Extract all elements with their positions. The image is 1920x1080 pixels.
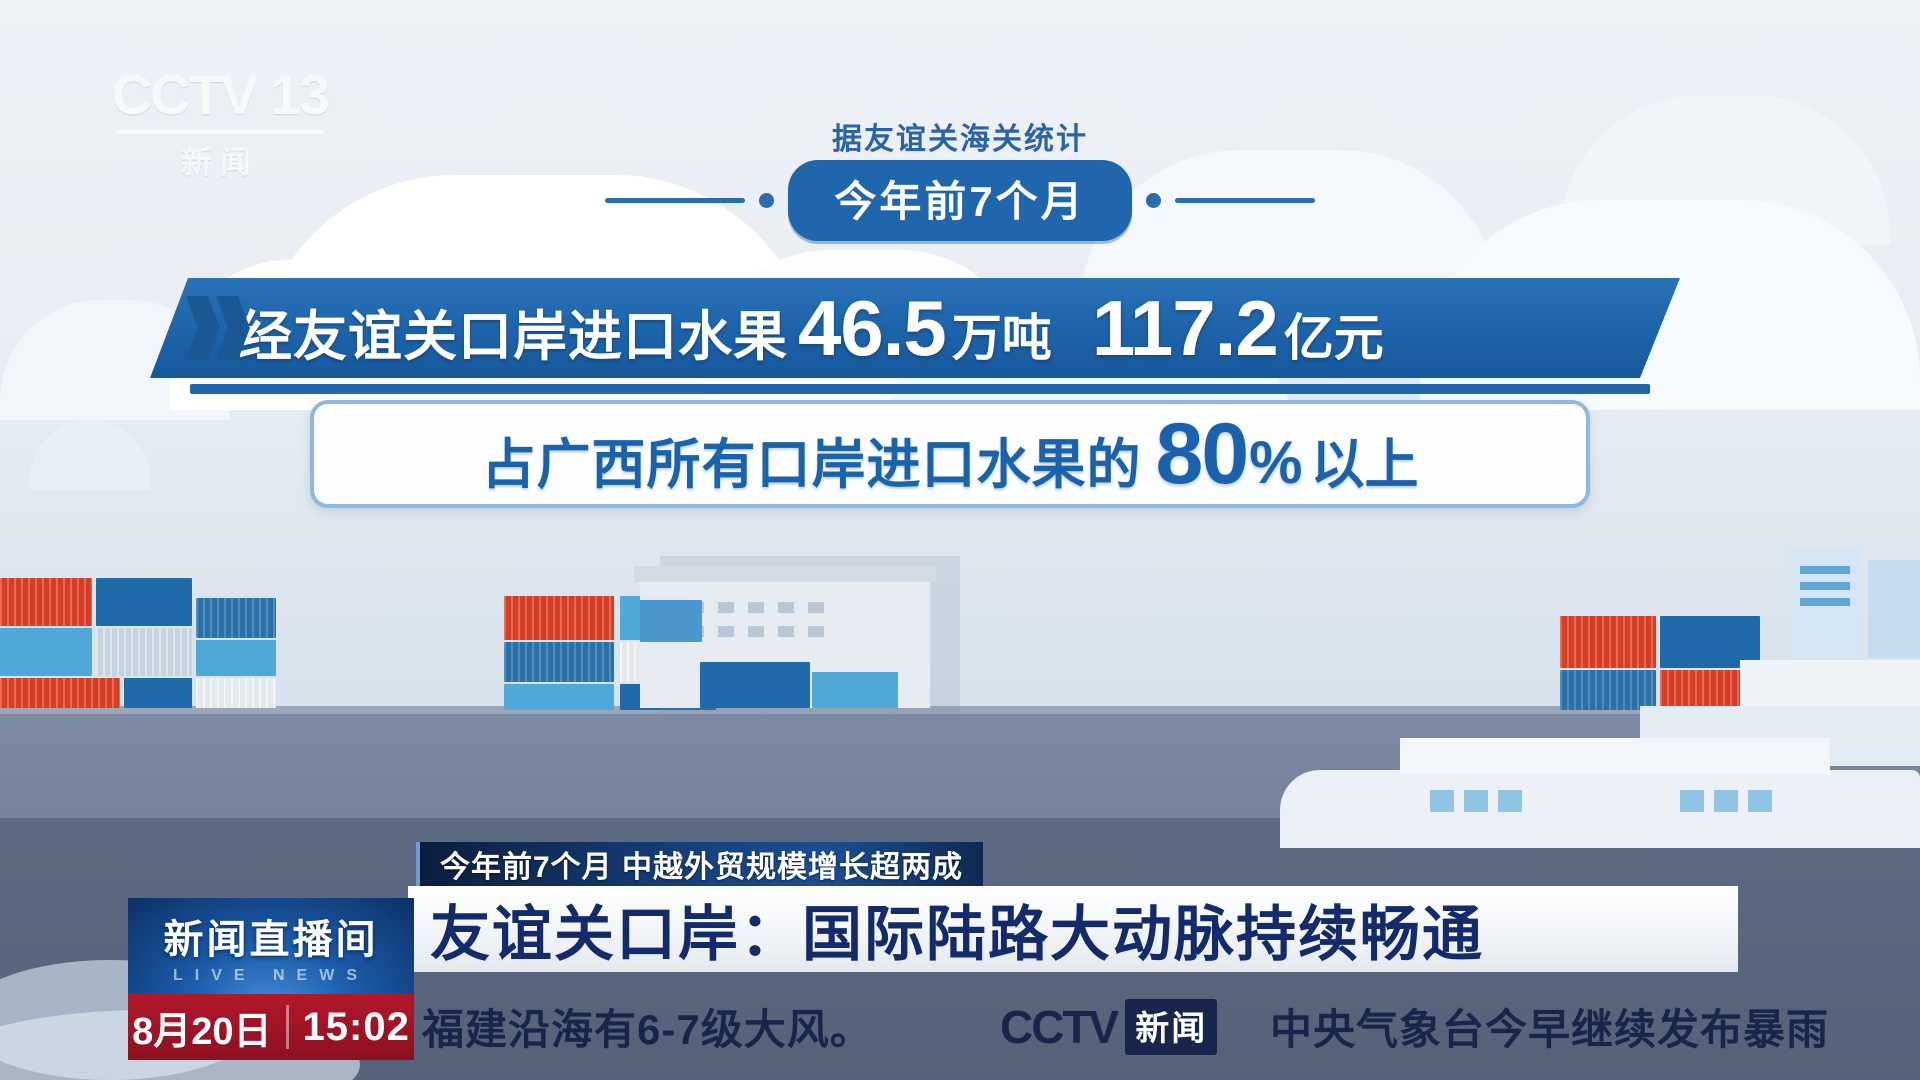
lower-third-kicker: 今年前7个月 中越外贸规模增长超两成 (416, 842, 983, 886)
vessel-window (1714, 790, 1738, 812)
cargo-container (504, 684, 614, 710)
tower-band (1800, 598, 1850, 606)
cargo-container (504, 642, 614, 682)
banner-unit-tonnage: 万吨 (952, 298, 1052, 370)
cargo-container (96, 628, 192, 676)
lower-third-kicker-text: 今年前7个月 中越外贸规模增长超两成 (440, 842, 963, 886)
tower-band (1800, 566, 1850, 574)
vessel-deck (1400, 738, 1830, 774)
infographic-kicker: 据友谊关海关统计 (0, 114, 1920, 158)
cargo-container (196, 598, 276, 638)
broadcast-date: 8月20日 (132, 1000, 285, 1055)
banner-lead-text: 经友谊关口岸进口水果 (238, 292, 788, 371)
program-name-latin: LIVE NEWS (173, 967, 369, 985)
cargo-container (196, 640, 276, 676)
port-tower (1868, 560, 1920, 658)
broadcast-time: 15:02 (289, 1005, 410, 1050)
cargo-container (124, 678, 192, 708)
vessel-hull (1280, 770, 1920, 848)
connector-line-left (605, 198, 745, 203)
period-pill: 今年前7个月 (788, 160, 1131, 241)
tower-band (1800, 582, 1850, 590)
vessel-window (1498, 790, 1522, 812)
connector-dot-right (1146, 193, 1161, 208)
headline-text: 友谊关口岸：国际陆路大动脉持续畅通 (430, 886, 1484, 973)
card-suffix: 以上 (1311, 420, 1419, 499)
stat-banner: 经友谊关口岸进口水果 46.5 万吨 117.2 亿元 (150, 278, 1680, 378)
datetime-bar: 8月20日 15:02 (128, 994, 414, 1060)
card-percent-sign: % (1249, 428, 1302, 497)
cargo-container (1560, 616, 1656, 668)
banner-value-amount: 117.2 (1092, 283, 1278, 374)
banner-unit-amount: 亿元 (1284, 298, 1384, 370)
double-chevron-icon (186, 294, 260, 362)
share-card-text: 占广西所有口岸进口水果的 80 % 以上 (481, 405, 1418, 504)
program-name: 新闻直播间 (164, 907, 379, 965)
ticker-left-text: 福建沿海有6-7级大风。 (408, 996, 873, 1057)
warehouse-roof (634, 566, 936, 582)
banner-value-tonnage: 46.5 (798, 283, 946, 374)
cargo-container (196, 678, 276, 708)
cargo-container (640, 600, 702, 642)
program-bug: 新闻直播间 LIVE NEWS (128, 898, 414, 994)
card-value: 80 (1155, 405, 1247, 504)
cargo-container (0, 678, 120, 708)
cctv-news-logo: CCTV 新闻 (1000, 996, 1217, 1058)
card-lead-text: 占广西所有口岸进口水果的 (481, 420, 1141, 499)
cargo-container (812, 672, 898, 708)
connector-dot-left (759, 193, 774, 208)
vessel-window (1464, 790, 1488, 812)
news-chip: 新闻 (1125, 999, 1217, 1055)
connector-line-right (1175, 198, 1315, 203)
cargo-container (96, 578, 192, 626)
lower-third-headline: 友谊关口岸：国际陆路大动脉持续畅通 (408, 886, 1738, 972)
banner-underline (190, 384, 1650, 394)
cargo-container (700, 662, 810, 708)
cargo-container (1560, 670, 1656, 710)
vessel-window (1748, 790, 1772, 812)
infographic-pill-row: 今年前7个月 (0, 160, 1920, 241)
vessel-window (1430, 790, 1454, 812)
cargo-container (0, 628, 92, 676)
vessel-window (1680, 790, 1704, 812)
share-card: 占广西所有口岸进口水果的 80 % 以上 (310, 400, 1590, 508)
cargo-container (0, 578, 92, 626)
cargo-container (504, 596, 614, 640)
stat-banner-body: 经友谊关口岸进口水果 46.5 万吨 117.2 亿元 (150, 278, 1680, 378)
ticker-right-text: 中央气象台今早继续发布暴雨 (1270, 996, 1829, 1057)
cctv-wordmark: CCTV (1000, 1000, 1117, 1054)
stat-banner-text: 经友谊关口岸进口水果 46.5 万吨 117.2 亿元 (238, 283, 1414, 374)
